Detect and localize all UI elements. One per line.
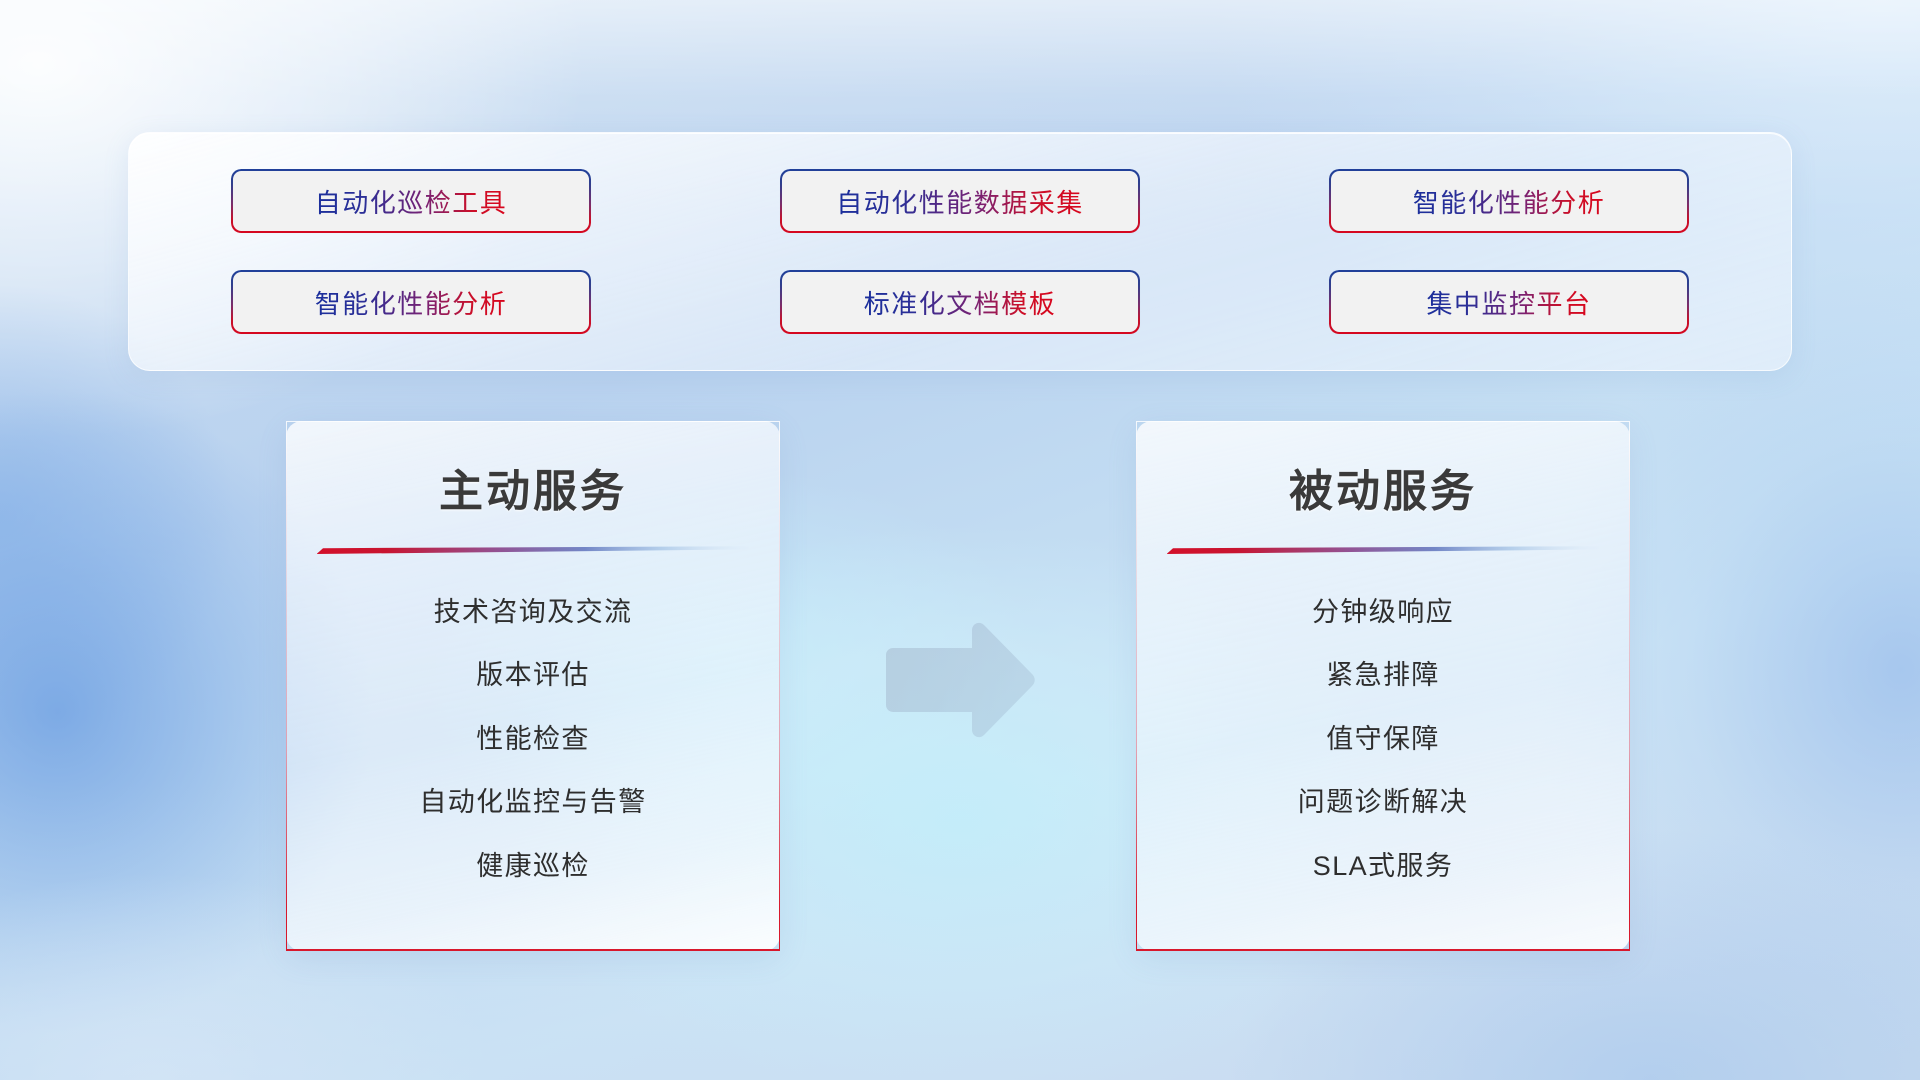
service-card-title: 被动服务 (1289, 455, 1477, 519)
title-underline-rule (317, 546, 749, 554)
capability-pill-label: 自动化巡检工具 (315, 183, 508, 220)
service-card-inner: 主动服务 (287, 422, 779, 949)
capability-pill-label: 自动化性能数据采集 (836, 183, 1084, 220)
capability-pill-0[interactable]: 自动化巡检工具 (233, 171, 589, 231)
capability-pill-5[interactable]: 集中监控平台 (1331, 272, 1687, 332)
capability-pill-3[interactable]: 智能化性能分析 (233, 272, 589, 332)
service-card-inner: 被动服务 (1137, 422, 1629, 949)
service-card-reactive[interactable]: 被动服务 (1136, 421, 1630, 951)
capability-pill-1[interactable]: 自动化性能数据采集 (782, 171, 1138, 231)
list-item: 值守保障 (1326, 723, 1440, 755)
list-item: 性能检查 (476, 723, 590, 755)
capability-pill-label: 智能化性能分析 (315, 284, 508, 321)
slide-content: 自动化巡检工具 自动化性能数据采集 智能化性能分析 智能化性能分析 标准化文档模… (0, 0, 1920, 1080)
service-card-title: 主动服务 (439, 455, 627, 519)
list-item: 问题诊断解决 (1298, 786, 1468, 818)
list-item: 分钟级响应 (1312, 596, 1454, 628)
capability-pill-label: 集中监控平台 (1426, 284, 1591, 321)
capability-panel: 自动化巡检工具 自动化性能数据采集 智能化性能分析 智能化性能分析 标准化文档模… (128, 132, 1792, 371)
title-underline-rule (1167, 546, 1599, 554)
list-item: SLA式服务 (1313, 850, 1453, 882)
capability-pill-label: 标准化文档模板 (864, 284, 1057, 321)
list-item: 紧急排障 (1326, 659, 1440, 691)
service-card-list: 分钟级响应 紧急排障 值守保障 问题诊断解决 SLA式服务 (1137, 596, 1629, 882)
list-item: 版本评估 (476, 659, 590, 691)
capability-pill-label: 智能化性能分析 (1413, 183, 1606, 220)
list-item: 自动化监控与告警 (419, 786, 646, 818)
list-item: 健康巡检 (476, 850, 590, 882)
service-card-list: 技术咨询及交流 版本评估 性能检查 自动化监控与告警 健康巡检 (287, 596, 779, 882)
capability-pill-2[interactable]: 智能化性能分析 (1331, 171, 1687, 231)
capability-pill-grid: 自动化巡检工具 自动化性能数据采集 智能化性能分析 智能化性能分析 标准化文档模… (129, 133, 1791, 370)
arrow-right-icon (876, 620, 1044, 740)
list-item: 技术咨询及交流 (434, 596, 633, 628)
capability-pill-4[interactable]: 标准化文档模板 (782, 272, 1138, 332)
service-card-proactive[interactable]: 主动服务 (286, 421, 780, 951)
